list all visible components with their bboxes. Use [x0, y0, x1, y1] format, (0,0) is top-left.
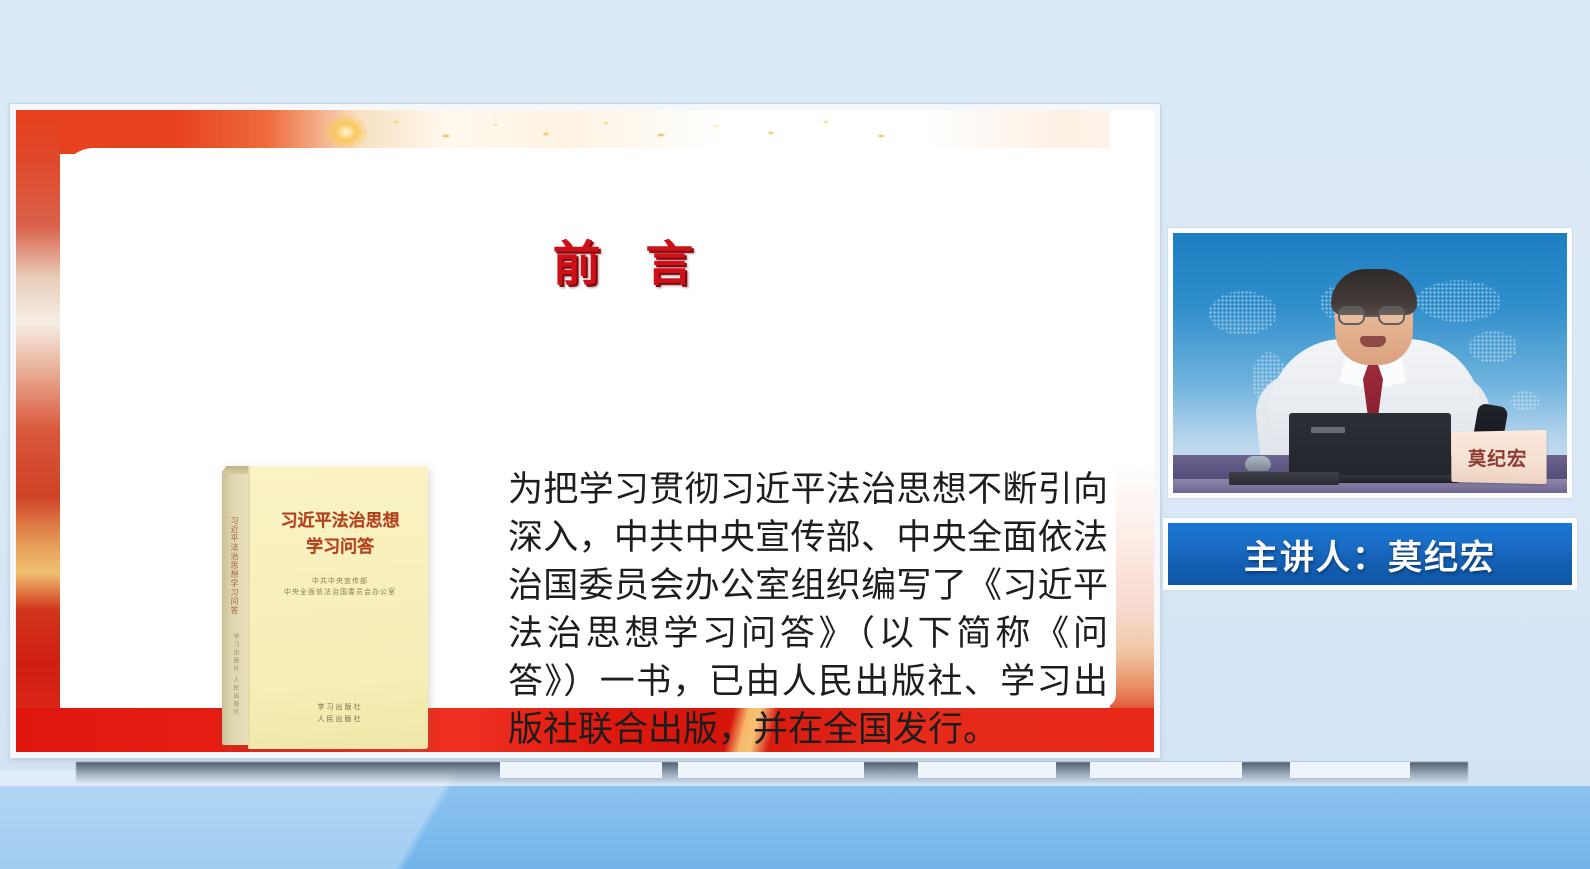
laptop-logo	[1311, 427, 1345, 433]
speaker-eyeglass-bridge	[1365, 315, 1378, 317]
book-cover-image: 习近平法治思想学习问答 学习出版社 人民出版社 习近平法治思想学习问答 中共中央…	[222, 466, 428, 749]
mouse-device	[1245, 456, 1271, 471]
desk-nameplate: 莫纪宏	[1451, 430, 1546, 484]
laptop-screen	[1289, 413, 1451, 475]
slide-border-left	[16, 110, 60, 752]
stand-gap	[678, 762, 864, 778]
book-front-cover: 习近平法治思想学习问答 中共中央宣传部中央全面依法治国委员会办公室 学习出版社人…	[248, 466, 428, 749]
speaker-eyeglass-left	[1338, 306, 1365, 325]
speaker-video-panel[interactable]: 莫纪宏	[1168, 228, 1572, 498]
book-cover-title: 习近平法治思想学习问答	[250, 508, 430, 560]
presentation-slide: 前 言 习近平法治思想学习问答 学习出版社 人民出版社 习近平法治思想学习问答 …	[16, 110, 1154, 752]
speaker-eyeglass-right	[1378, 306, 1405, 325]
speaker-caption-text: 主讲人：莫纪宏	[1244, 530, 1496, 579]
stand-gap	[1090, 762, 1242, 778]
book-spine-publisher: 学习出版社 人民出版社	[231, 633, 240, 717]
book-spine: 习近平法治思想学习问答 学习出版社 人民出版社	[222, 470, 248, 745]
background-lower	[0, 786, 1590, 869]
book-cover-publisher: 学习出版社人民出版社	[250, 701, 430, 725]
desk-nameplate-text: 莫纪宏	[1468, 443, 1527, 471]
stand-gap	[918, 762, 1056, 778]
speaker-mouth	[1360, 336, 1386, 347]
stand-gap	[500, 762, 662, 778]
broadcast-stage: 前 言 习近平法治思想学习问答 学习出版社 人民出版社 习近平法治思想学习问答 …	[0, 0, 1590, 869]
stand-gap	[1290, 762, 1410, 778]
presentation-slide-frame: 前 言 习近平法治思想学习问答 学习出版社 人民出版社 习近平法治思想学习问答 …	[10, 104, 1160, 758]
book-spine-title: 习近平法治思想学习问答	[229, 516, 240, 615]
slide-body-text: 为把学习贯彻习近平法治思想不断引向深入，中共中央宣传部、中央全面依法治国委员会办…	[508, 466, 1108, 752]
keyboard	[1229, 472, 1339, 485]
slide-border-right	[1110, 110, 1154, 752]
speaker-caption-banner: 主讲人：莫纪宏	[1168, 523, 1572, 585]
slide-title: 前 言	[60, 224, 1154, 294]
book-cover-authors: 中共中央宣传部中央全面依法治国委员会办公室	[250, 576, 430, 598]
slide-content-area: 前 言 习近平法治思想学习问答 学习出版社 人民出版社 习近平法治思想学习问答 …	[60, 148, 1116, 708]
speaker-video-feed: 莫纪宏	[1173, 233, 1567, 493]
